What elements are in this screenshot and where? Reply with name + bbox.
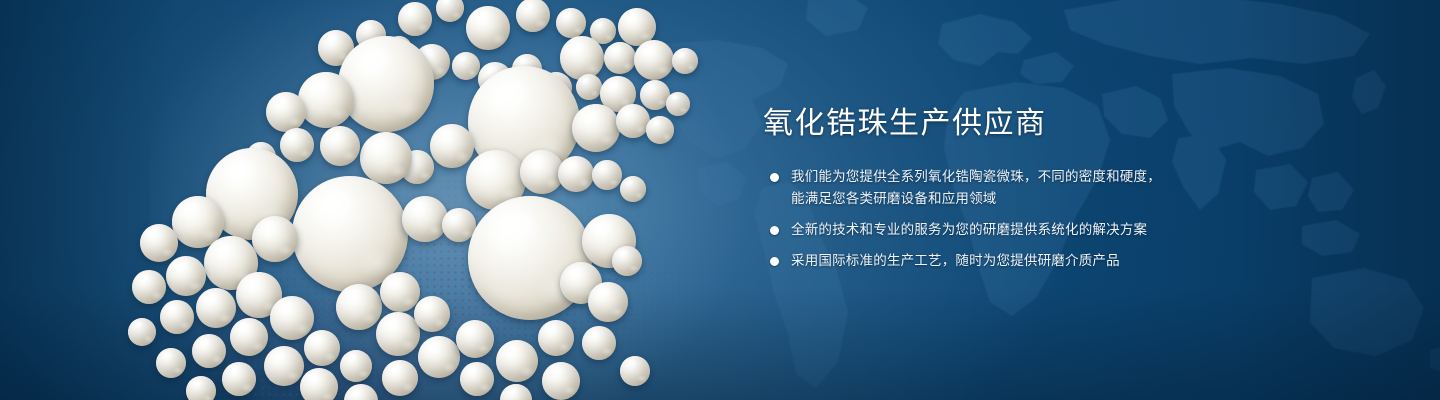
list-item: 全新的技术和专业的服务为您的研磨提供系统化的解决方案 bbox=[763, 219, 1233, 241]
list-item-line: 全新的技术和专业的服务为您的研磨提供系统化的解决方案 bbox=[791, 219, 1233, 241]
banner-copy: 氧化锆珠生产供应商 我们能为您提供全系列氧化锆陶瓷微珠，不同的密度和硬度， 能满… bbox=[763, 104, 1233, 272]
bullet-marker-icon bbox=[770, 173, 779, 182]
feature-list: 我们能为您提供全系列氧化锆陶瓷微珠，不同的密度和硬度， 能满足您各类研磨设备和应… bbox=[763, 166, 1233, 272]
list-item: 采用国际标准的生产工艺，随时为您提供研磨介质产品 bbox=[763, 250, 1233, 272]
bullet-marker-icon bbox=[770, 257, 779, 266]
list-item-line: 我们能为您提供全系列氧化锆陶瓷微珠，不同的密度和硬度， bbox=[791, 166, 1233, 188]
hero-banner: 氧化锆珠生产供应商 我们能为您提供全系列氧化锆陶瓷微珠，不同的密度和硬度， 能满… bbox=[0, 0, 1440, 400]
list-item: 我们能为您提供全系列氧化锆陶瓷微珠，不同的密度和硬度， 能满足您各类研磨设备和应… bbox=[763, 166, 1233, 210]
page-title: 氧化锆珠生产供应商 bbox=[763, 104, 1233, 144]
list-item-line: 采用国际标准的生产工艺，随时为您提供研磨介质产品 bbox=[791, 250, 1233, 272]
list-item-line: 能满足您各类研磨设备和应用领域 bbox=[791, 188, 1233, 210]
bullet-marker-icon bbox=[770, 226, 779, 235]
